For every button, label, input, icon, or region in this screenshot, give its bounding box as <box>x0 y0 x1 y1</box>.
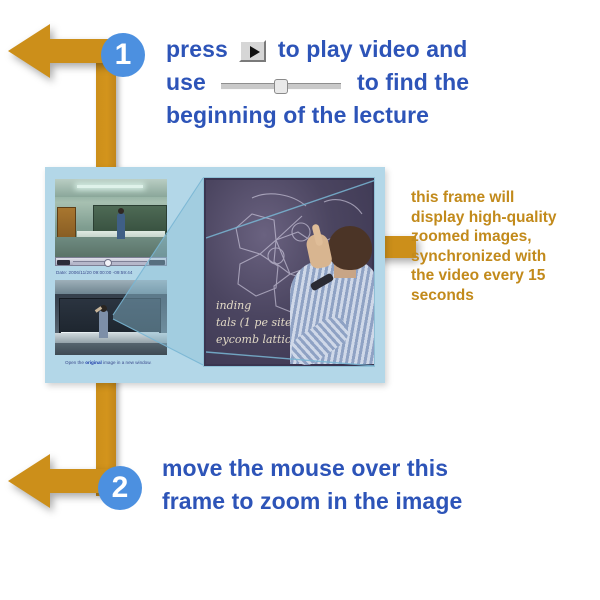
frame-annotation-note: this frame will display high-quality zoo… <box>411 188 591 305</box>
instruction-line-1: press to play video and <box>166 33 586 66</box>
video-control-bar[interactable] <box>55 257 167 266</box>
video-thumbnail-board[interactable] <box>55 280 167 355</box>
chalkboard-2 <box>59 298 161 336</box>
step-badge-2-number: 2 <box>112 473 129 503</box>
link-word[interactable]: original <box>85 360 102 365</box>
ceiling-2 <box>55 280 167 294</box>
instruction-step-2-line-2: frame to zoom in the image <box>162 485 582 518</box>
slider-knob[interactable] <box>274 79 288 94</box>
playback-buttons[interactable] <box>57 260 70 265</box>
lecture-player-screenshot[interactable]: Date: 2006/11/20 09:00:00 -09:59:44 Open… <box>45 167 385 383</box>
high-quality-zoom-frame[interactable]: inding tals (1 pe site) eycomb lattice <box>203 177 375 367</box>
video-extra-buttons[interactable] <box>149 260 165 265</box>
instruction-line-2: use to find the <box>166 66 586 99</box>
classroom-scene-wide <box>55 179 167 257</box>
link-suffix: image in a new window. <box>102 360 152 365</box>
floor <box>55 237 167 257</box>
zoom-cone-overlay <box>206 180 375 367</box>
note-line-5: the video every 15 <box>411 266 591 286</box>
recording-date-label: Date: 2006/11/20 09:00:00 -09:59:44 <box>56 270 206 275</box>
note-line-1: this frame will <box>411 188 591 208</box>
instruction-line-3: beginning of the lecture <box>166 99 586 132</box>
desk-2 <box>55 333 167 343</box>
use-label: use <box>166 69 206 95</box>
video-thumbnail-wide[interactable] <box>55 179 167 257</box>
floor-2 <box>55 343 167 355</box>
press-label: press <box>166 36 228 62</box>
video-scrub-knob[interactable] <box>104 259 112 267</box>
note-line-6: seconds <box>411 286 591 306</box>
instruction-step-2: move the mouse over this frame to zoom i… <box>162 452 582 518</box>
ceiling-lamp <box>77 185 143 188</box>
instruction-step-1: press to play video and use to find the … <box>166 33 586 132</box>
to-find-the-label: to find the <box>357 69 469 95</box>
step-badge-2: 2 <box>98 466 142 510</box>
lecturer-body <box>117 213 125 239</box>
lecturer-body-2 <box>99 310 108 338</box>
time-slider-icon[interactable] <box>221 78 341 93</box>
note-line-3: zoomed images, <box>411 227 591 247</box>
link-prefix: Open the <box>65 360 85 365</box>
ceiling <box>55 179 167 197</box>
lecturer-head <box>118 208 124 214</box>
zoomed-chalkboard: inding tals (1 pe site) eycomb lattice <box>206 180 372 364</box>
annotated-screenshot: 1 2 press to play video and use to find … <box>0 0 600 600</box>
note-line-4: synchronized with <box>411 247 591 267</box>
classroom-scene-board <box>55 280 167 355</box>
step-badge-1: 1 <box>101 33 145 77</box>
to-play-video-label: to play video and <box>278 36 468 62</box>
instruction-step-2-line-1: move the mouse over this <box>162 452 582 485</box>
play-icon[interactable] <box>239 40 266 62</box>
step-badge-1-number: 1 <box>115 40 132 70</box>
note-line-2: display high-quality <box>411 208 591 228</box>
